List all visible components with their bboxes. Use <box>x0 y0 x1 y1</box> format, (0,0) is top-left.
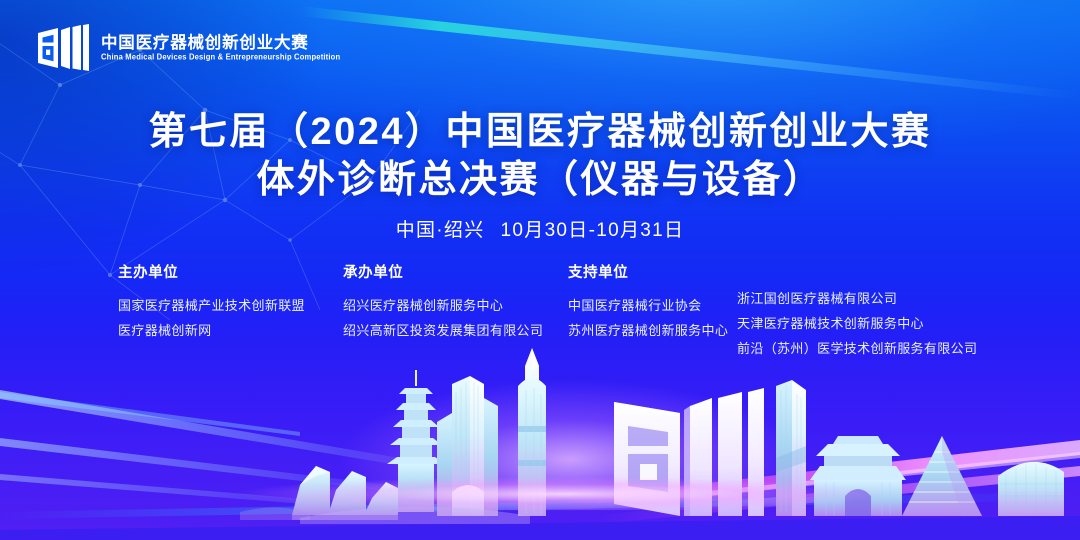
landmark-curved-stadium <box>998 462 1064 516</box>
organizer-column-coorganizer: 承办单位 绍兴医疗器械创新服务中心 绍兴高新区投资发展集团有限公司 <box>343 266 543 343</box>
poster-subheadline: 中国·绍兴10月30日-10月31日 <box>0 218 1080 244</box>
organizer-item: 中国医疗器械行业协会 <box>568 293 728 318</box>
organizer-item: 浙江国创医疗器械有限公司 <box>737 286 977 311</box>
headline-line-2: 体外诊断总决赛（仪器与设备） <box>0 156 1080 204</box>
landmark-tall-tower <box>776 380 806 516</box>
skyline-left-low-bank <box>240 507 310 520</box>
logo-name-cn: 中国医疗器械创新创业大赛 <box>101 35 340 52</box>
organizer-item: 苏州医疗器械创新服务中心 <box>568 318 728 343</box>
open-door-book-logo-icon <box>36 24 90 72</box>
organizer-heading: 承办单位 <box>343 266 543 281</box>
organizer-heading: 主办单位 <box>118 266 305 281</box>
poster-canvas: 中国医疗器械创新创业大赛 China Medical Devices Desig… <box>0 0 1080 540</box>
competition-logo-lockup[interactable]: 中国医疗器械创新创业大赛 China Medical Devices Desig… <box>36 24 340 72</box>
landmark-stepped-pyramid <box>902 436 982 516</box>
event-location: 中国·绍兴 <box>396 220 485 241</box>
organizer-item: 天津医疗器械技术创新服务中心 <box>737 311 977 336</box>
organizer-item: 前沿（苏州）医学技术创新服务有限公司 <box>737 336 977 361</box>
organizer-column-supporter-extra: 浙江国创医疗器械有限公司 天津医疗器械技术创新服务中心 前沿（苏州）医学技术创新… <box>737 286 977 361</box>
ground-light-glow <box>0 458 1080 518</box>
landmark-chinese-gate <box>810 436 906 516</box>
organizer-item: 绍兴高新区投资发展集团有限公司 <box>343 318 543 343</box>
landmark-pagoda <box>387 370 445 512</box>
logo-text-block: 中国医疗器械创新创业大赛 China Medical Devices Desig… <box>101 35 340 61</box>
organizers-block: 主办单位 国家医疗器械产业技术创新联盟 医疗器械创新网 承办单位 绍兴医疗器械创… <box>0 266 1080 366</box>
organizer-heading: 支持单位 <box>568 266 728 281</box>
poster-headline: 第七届（2024）中国医疗器械创新创业大赛 体外诊断总决赛（仪器与设备） <box>0 108 1080 204</box>
organizer-column-host: 主办单位 国家医疗器械产业技术创新联盟 医疗器械创新网 <box>118 266 305 343</box>
landmark-glass-tower <box>437 376 498 516</box>
organizer-column-supporter: 支持单位 中国医疗器械行业协会 苏州医疗器械创新服务中心 <box>568 266 728 343</box>
organizer-item: 医疗器械创新网 <box>118 318 305 343</box>
event-dates: 10月30日-10月31日 <box>501 220 685 241</box>
landmark-competition-logo-monument <box>614 388 764 516</box>
organizer-item: 绍兴医疗器械创新服务中心 <box>343 293 543 318</box>
logo-name-en: China Medical Devices Design & Entrepren… <box>101 53 340 62</box>
headline-line-1: 第七届（2024）中国医疗器械创新创业大赛 <box>0 108 1080 156</box>
landmark-spire-tower <box>518 348 546 516</box>
landmark-opera-house <box>292 466 398 520</box>
city-skyline-illustration <box>0 340 1080 540</box>
organizer-item: 国家医疗器械产业技术创新联盟 <box>118 293 305 318</box>
